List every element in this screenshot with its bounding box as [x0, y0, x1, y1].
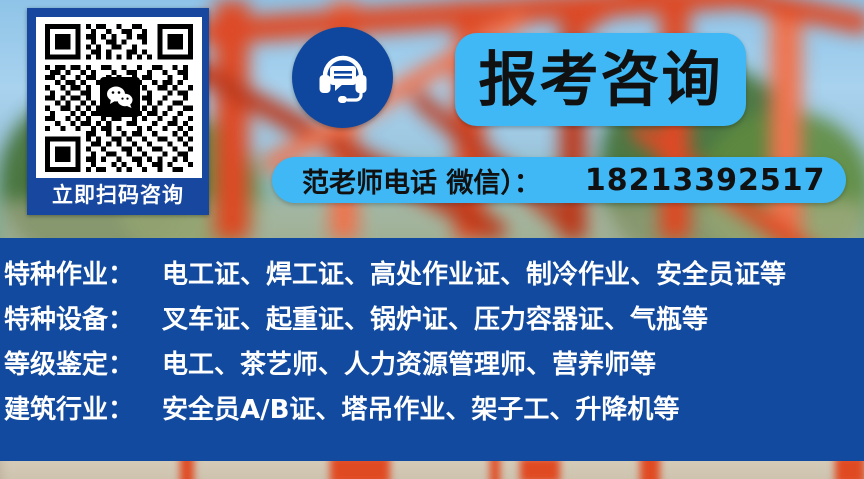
- qr-code-card[interactable]: 立即扫码咨询: [27, 8, 209, 215]
- info-row-items: 安全员A/B证、塔吊作业、架子工、升降机等: [162, 389, 679, 426]
- consult-badge[interactable]: 报考咨询: [455, 33, 746, 126]
- contact-label: 范老师电话 微信）：: [302, 161, 541, 200]
- info-row-items: 叉车证、起重证、锅炉证、压力容器证、气瓶等: [162, 299, 708, 336]
- info-row-category: 建筑行业：: [4, 389, 156, 426]
- advertisement-banner: 立即扫码咨询 报考咨询 范老师电话 微信）： 18213392517 特种作业：…: [0, 0, 864, 479]
- qr-code-area[interactable]: [36, 17, 202, 178]
- info-row-items: 电工证、焊工证、高处作业证、制冷作业、安全员证等: [162, 254, 786, 291]
- info-row-special-equipment: 特种设备： 叉车证、起重证、锅炉证、压力容器证、气瓶等: [0, 299, 864, 344]
- info-row-items: 电工、茶艺师、人力资源管理师、营养师等: [162, 344, 656, 381]
- info-row-special-operations: 特种作业： 电工证、焊工证、高处作业证、制冷作业、安全员证等: [0, 254, 864, 299]
- info-row-category: 等级鉴定：: [4, 344, 156, 381]
- contact-phone-pill[interactable]: 范老师电话 微信）： 18213392517: [272, 157, 846, 203]
- info-row-construction-industry: 建筑行业： 安全员A/B证、塔吊作业、架子工、升降机等: [0, 389, 864, 434]
- info-row-grade-appraisal: 等级鉴定： 电工、茶艺师、人力资源管理师、营养师等: [0, 344, 864, 389]
- headset-support-icon: [292, 27, 393, 128]
- wechat-logo-icon: [100, 77, 140, 117]
- info-row-category: 特种设备：: [4, 299, 156, 336]
- contact-phone-number[interactable]: 18213392517: [585, 163, 826, 198]
- certificate-categories-panel: 特种作业： 电工证、焊工证、高处作业证、制冷作业、安全员证等 特种设备： 叉车证…: [0, 238, 864, 461]
- info-row-category: 特种作业：: [4, 254, 156, 291]
- bottom-photo-strip: [0, 461, 864, 479]
- qr-card-caption: 立即扫码咨询: [30, 179, 206, 209]
- consult-badge-label: 报考咨询: [478, 50, 722, 109]
